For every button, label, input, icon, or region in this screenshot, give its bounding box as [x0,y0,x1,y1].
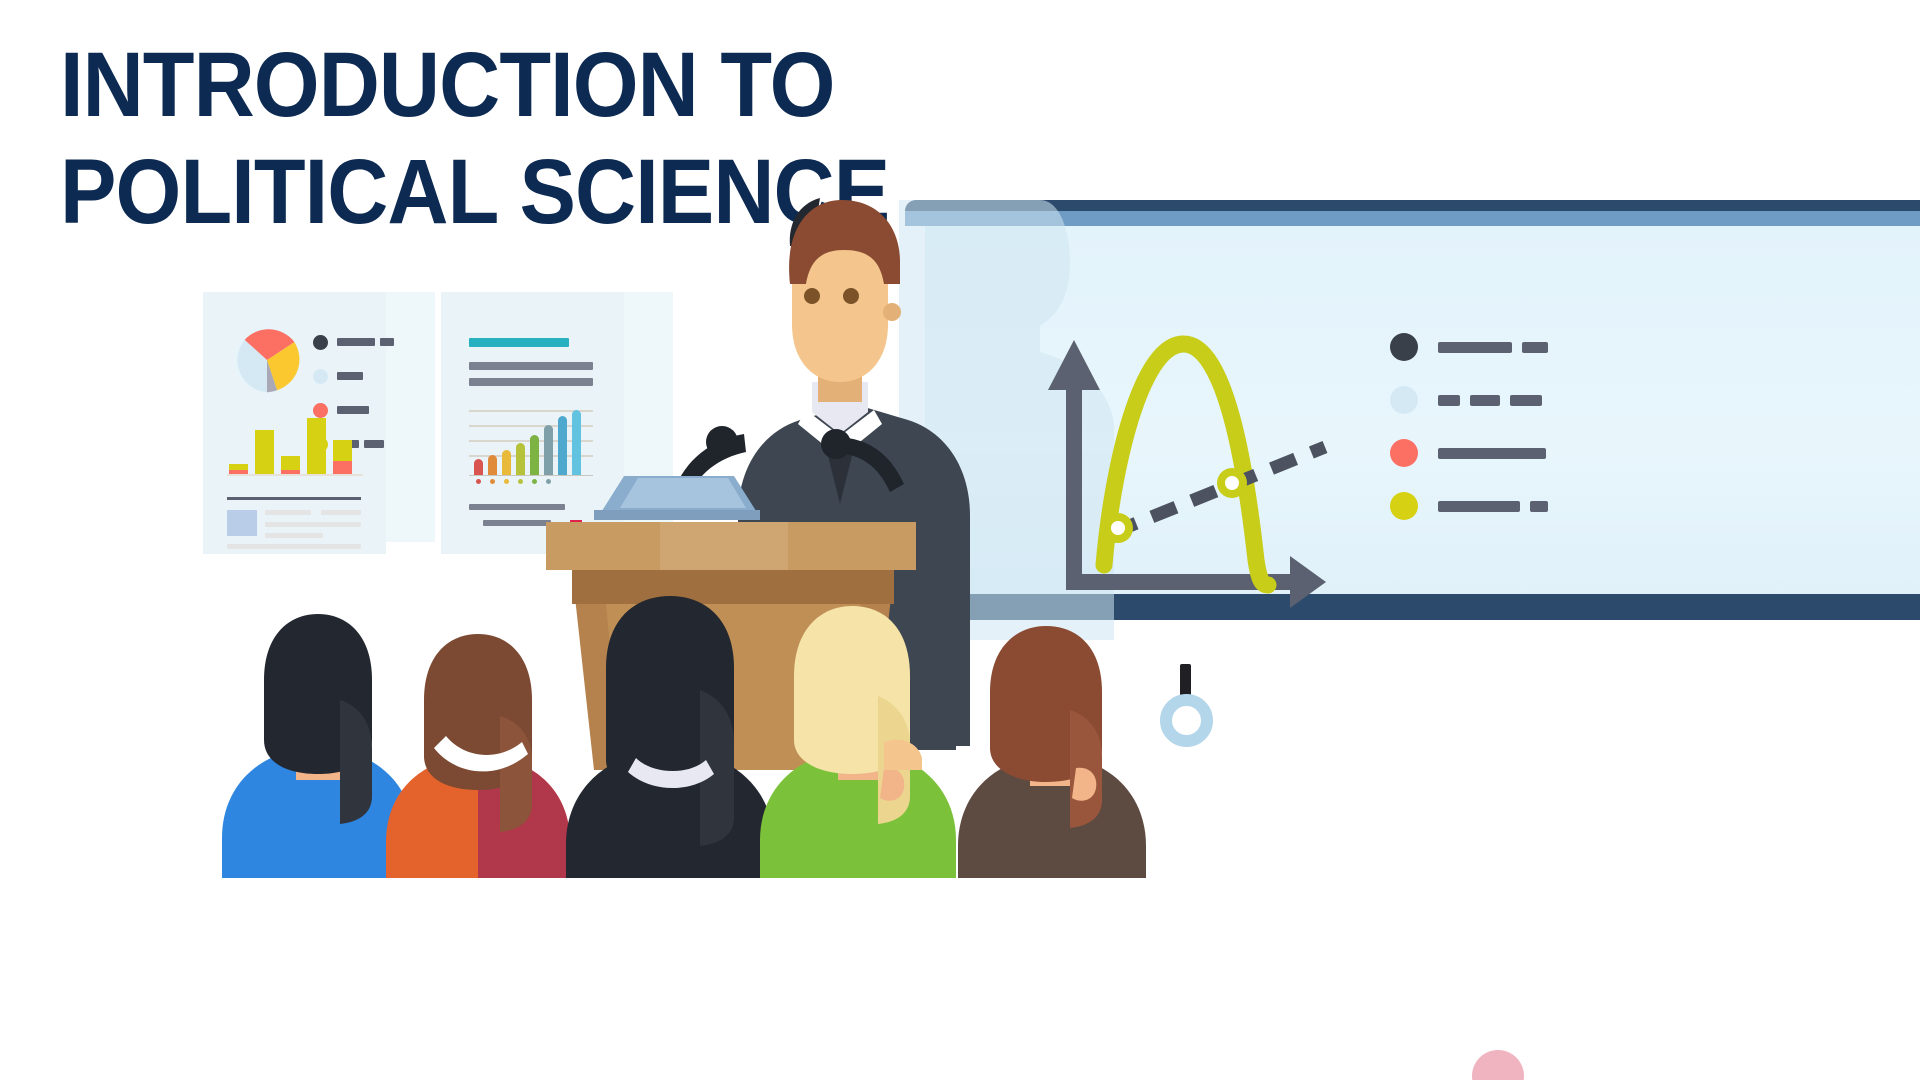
laptop [594,476,760,520]
audience-member-1 [222,614,414,878]
presenter-eye-left [804,288,820,304]
presenter-ear [883,303,901,321]
presentation-illustration [0,0,1920,1080]
podium-top-shade [660,522,788,570]
presenter-eye-right [843,288,859,304]
people-and-podium-svg [0,0,1920,1080]
slide-canvas: Introduction to Political Science [0,0,1920,1080]
podium-front-dark [572,570,894,604]
audience-member-2 [386,634,570,878]
audience-member-5 [958,626,1146,878]
decorative-circle [1472,1050,1524,1080]
